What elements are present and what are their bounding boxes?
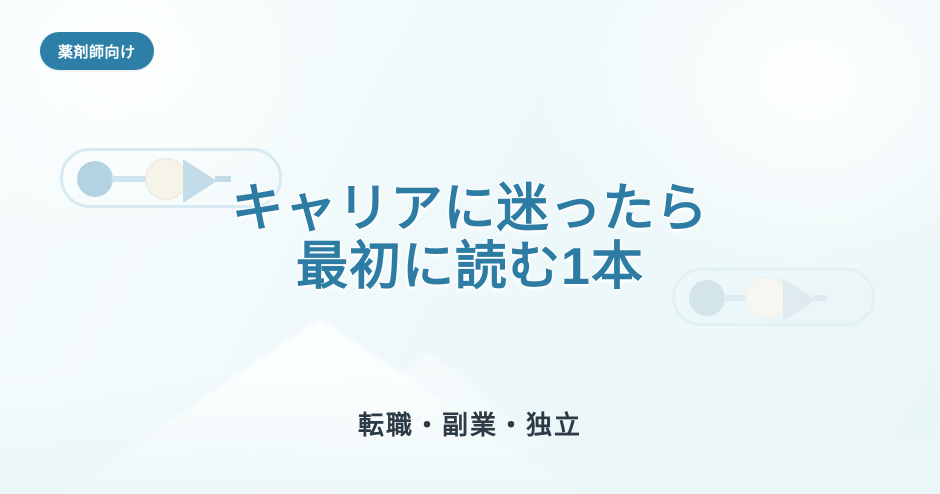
audience-badge: 薬剤師向け (40, 32, 154, 70)
promo-banner: 薬剤師向け キャリアに迷ったら 最初に読む1本 転職・副業・独立 (0, 0, 940, 494)
headline-line-2: 最初に読む1本 (0, 238, 940, 296)
subtitle: 転職・副業・独立 (0, 405, 940, 442)
page-title: キャリアに迷ったら 最初に読む1本 (0, 180, 940, 296)
audience-badge-label: 薬剤師向け (58, 41, 136, 62)
headline-line-1: キャリアに迷ったら (0, 180, 940, 238)
